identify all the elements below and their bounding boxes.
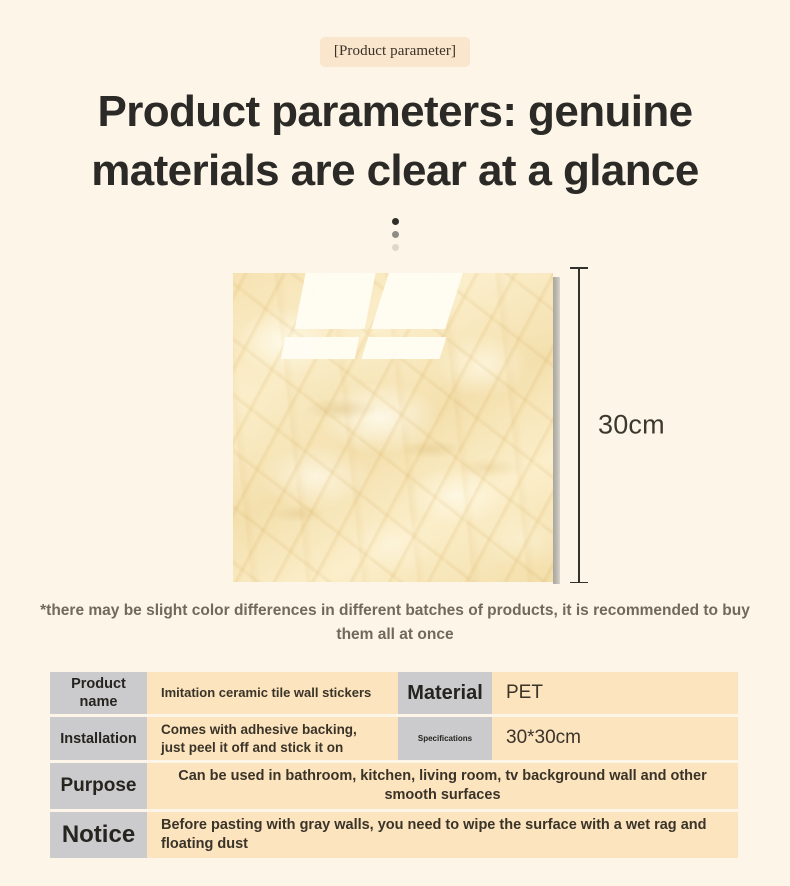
page-title: Product parameters: genuine materials ar… — [0, 83, 790, 200]
cell-value-specifications: 30*30cm — [492, 717, 738, 760]
product-parameter-badge: [Product parameter] — [320, 37, 470, 67]
cell-label-product-name: Product name — [50, 672, 147, 714]
table-row: Notice Before pasting with gray walls, y… — [50, 812, 738, 858]
tile-sample-wrapper — [233, 273, 560, 582]
tile-edge-shadow — [553, 277, 560, 584]
dimension-cap-bottom — [570, 582, 588, 584]
cell-label-material: Material — [398, 672, 492, 714]
table-row: Installation Comes with adhesive backing… — [50, 717, 738, 760]
table-row: Product name Imitation ceramic tile wall… — [50, 672, 738, 714]
cell-label-installation: Installation — [50, 717, 147, 760]
color-difference-disclaimer: *there may be slight color differences i… — [0, 599, 790, 647]
dimension-marker: 30cm — [570, 267, 572, 583]
reflection-pane-c — [281, 337, 359, 359]
cell-value-notice: Before pasting with gray walls, you need… — [147, 812, 738, 858]
reflection-pane-d — [361, 337, 446, 359]
product-image-area: 30cm — [0, 267, 790, 597]
cell-label-purpose: Purpose — [50, 763, 147, 809]
table-row: Purpose Can be used in bathroom, kitchen… — [50, 763, 738, 809]
badge-container: [Product parameter] — [0, 0, 790, 67]
dot-icon-2 — [392, 231, 399, 238]
specification-table: Product name Imitation ceramic tile wall… — [50, 672, 738, 858]
tile-marble-image — [233, 273, 553, 582]
cell-label-notice: Notice — [50, 812, 147, 858]
dot-icon-3 — [392, 244, 399, 251]
cell-value-purpose: Can be used in bathroom, kitchen, living… — [147, 763, 738, 809]
reflection-pane-b — [371, 273, 463, 329]
cell-label-specifications: Specifications — [398, 717, 492, 760]
window-reflection — [288, 273, 464, 363]
decorative-dots — [0, 218, 790, 251]
dot-icon-1 — [392, 218, 399, 225]
cell-value-installation: Comes with adhesive backing, just peel i… — [147, 717, 398, 760]
cell-value-product-name: Imitation ceramic tile wall stickers — [147, 672, 398, 714]
reflection-pane-a — [295, 273, 376, 329]
dimension-line — [578, 267, 580, 583]
cell-value-material: PET — [492, 672, 738, 714]
dimension-label: 30cm — [598, 410, 665, 441]
